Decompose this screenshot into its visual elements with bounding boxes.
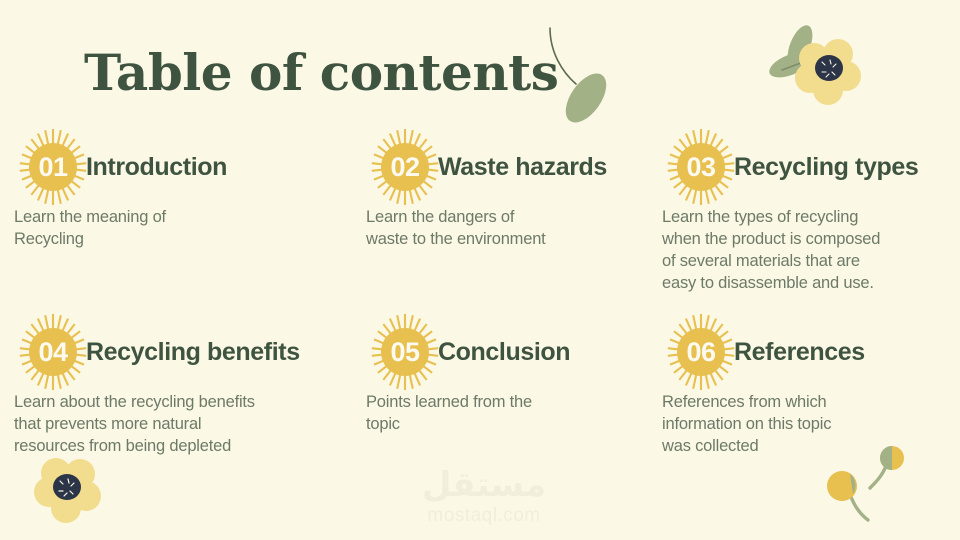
- watermark-arabic: مستقل: [404, 468, 564, 502]
- page-title: Table of contents: [84, 45, 558, 100]
- toc-entry-header: 01 Introduction: [14, 128, 352, 206]
- toc-entry-number: 03: [662, 128, 740, 206]
- sunburst-badge-icon: 03: [662, 128, 740, 206]
- toc-entry-04[interactable]: 04 Recycling benefits Learn about the re…: [0, 313, 352, 458]
- toc-entry-heading: Conclusion: [438, 338, 570, 367]
- flower-icon: [28, 448, 108, 533]
- toc-entry-05[interactable]: 05 Conclusion Points learned from the to…: [352, 313, 648, 458]
- toc-entry-number: 02: [366, 128, 444, 206]
- toc-entry-03[interactable]: 03 Recycling types Learn the types of re…: [648, 128, 960, 295]
- sunburst-badge-icon: 05: [366, 313, 444, 391]
- toc-entry-description: Learn the types of recycling when the pr…: [662, 207, 960, 295]
- toc-entry-number: 05: [366, 313, 444, 391]
- toc-entry-number: 04: [14, 313, 92, 391]
- watermark-latin: mostaql.com: [404, 505, 564, 527]
- toc-entry-header: 06 References: [662, 313, 960, 391]
- sunburst-badge-icon: 04: [14, 313, 92, 391]
- toc-entry-description: Learn the dangers of waste to the enviro…: [366, 207, 648, 251]
- toc-entry-header: 02 Waste hazards: [366, 128, 648, 206]
- toc-entry-06[interactable]: 06 References References from which info…: [648, 313, 960, 458]
- toc-entry-header: 03 Recycling types: [662, 128, 960, 206]
- toc-entry-number: 01: [14, 128, 92, 206]
- toc-entry-description: Learn the meaning of Recycling: [14, 207, 352, 251]
- toc-entry-02[interactable]: 02 Waste hazards Learn the dangers of wa…: [352, 128, 648, 295]
- watermark: مستقل mostaql.com: [404, 468, 564, 527]
- toc-entry-heading: Recycling benefits: [86, 338, 300, 367]
- toc-entry-heading: Waste hazards: [438, 153, 607, 182]
- sunburst-badge-icon: 02: [366, 128, 444, 206]
- sunburst-badge-icon: 06: [662, 313, 740, 391]
- toc-entry-description: Points learned from the topic: [366, 392, 648, 436]
- toc-entry-header: 05 Conclusion: [366, 313, 648, 391]
- toc-entry-01[interactable]: 01 Introduction Learn the meaning of Rec…: [0, 128, 352, 295]
- toc-entry-heading: Recycling types: [734, 153, 918, 182]
- flower-with-leaves-icon: [752, 20, 872, 125]
- toc-entry-number: 06: [662, 313, 740, 391]
- toc-entry-description: References from which information on thi…: [662, 392, 960, 458]
- sunburst-badge-icon: 01: [14, 128, 92, 206]
- toc-entry-description: Learn about the recycling benefits that …: [14, 392, 352, 458]
- toc-entry-header: 04 Recycling benefits: [14, 313, 352, 391]
- slide-canvas: Table of contents: [0, 0, 960, 540]
- toc-entry-heading: Introduction: [86, 153, 227, 182]
- toc-entry-heading: References: [734, 338, 865, 367]
- toc-row: 04 Recycling benefits Learn about the re…: [0, 313, 960, 458]
- toc-row: 01 Introduction Learn the meaning of Rec…: [0, 128, 960, 295]
